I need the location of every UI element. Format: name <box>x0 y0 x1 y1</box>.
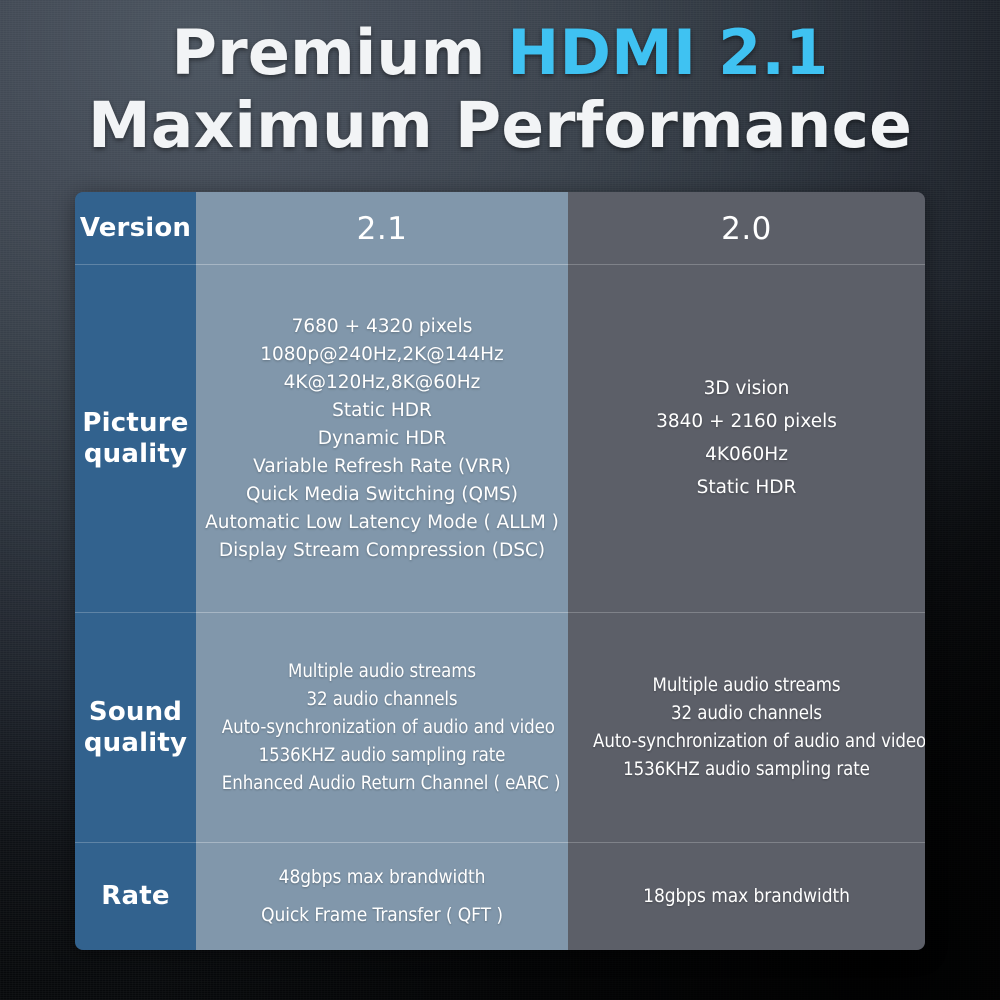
row-label-picture-quality: Picture quality <box>75 265 196 613</box>
cell-text-block: 18gbps max brandwidth <box>568 878 925 915</box>
spec-line: Variable Refresh Rate (VRR) <box>204 453 560 481</box>
spec-line: Quick Frame Transfer ( QFT ) <box>222 897 542 934</box>
cell-rate-20: 18gbps max brandwidth <box>568 843 925 950</box>
title-prefix: Premium <box>172 16 508 89</box>
page-title: Premium HDMI 2.1 Maximum Performance <box>0 22 1000 157</box>
table-header-20: 2.0 <box>568 192 925 265</box>
table-header-version: Version <box>75 192 196 265</box>
cell-sound-quality-20: Multiple audio streams 32 audio channels… <box>568 613 925 843</box>
row-label-line-1: Picture <box>82 408 188 438</box>
spec-line: Static HDR <box>204 397 560 425</box>
comparison-table: Version 2.1 2.0 Picture quality 7680 + 4… <box>75 192 925 950</box>
row-label-line-2: quality <box>84 439 187 469</box>
cell-text-block: 7680 + 4320 pixels 1080p@240Hz,2K@144Hz … <box>196 309 568 570</box>
cell-text-block: Multiple audio streams 32 audio channels… <box>196 654 568 803</box>
spec-line: 4K060Hz <box>576 439 917 472</box>
spec-line: Quick Media Switching (QMS) <box>204 481 560 509</box>
cell-picture-quality-20: 3D vision 3840 + 2160 pixels 4K060Hz Sta… <box>568 265 925 613</box>
spec-line: Auto-synchronization of audio and video <box>593 728 900 756</box>
row-label-sound-quality: Sound quality <box>75 613 196 843</box>
row-label-line-1: Sound <box>89 697 182 727</box>
row-label-text: Picture quality <box>82 408 188 469</box>
spec-line: 1080p@240Hz,2K@144Hz <box>204 341 560 369</box>
row-label-line-2: quality <box>84 728 187 758</box>
row-label-rate: Rate <box>75 843 196 950</box>
spec-line: 3D vision <box>576 373 917 406</box>
cell-text-block: Multiple audio streams 32 audio channels… <box>568 668 925 788</box>
spec-line: Multiple audio streams <box>593 672 900 700</box>
spec-line: Auto-synchronization of audio and video <box>222 714 542 742</box>
spec-line: Display Stream Compression (DSC) <box>204 537 560 565</box>
title-accent: HDMI 2.1 <box>507 16 828 89</box>
header-label-version: Version <box>80 213 191 244</box>
spec-line: 48gbps max brandwidth <box>222 859 542 896</box>
spec-line: 4K@120Hz,8K@60Hz <box>204 369 560 397</box>
spec-line: 32 audio channels <box>222 686 542 714</box>
spec-line: 1536KHZ audio sampling rate <box>222 742 542 770</box>
header-label-21: 2.1 <box>357 211 408 247</box>
spec-line: 18gbps max brandwidth <box>593 882 900 911</box>
cell-text-block: 48gbps max brandwidth Quick Frame Transf… <box>196 855 568 937</box>
title-line-2: Maximum Performance <box>0 94 1000 157</box>
spec-line: Enhanced Audio Return Channel ( eARC ) <box>222 770 542 798</box>
spec-line: Static HDR <box>576 472 917 505</box>
table-header-21: 2.1 <box>196 192 568 265</box>
title-line-1: Premium HDMI 2.1 <box>0 22 1000 84</box>
spec-line: 1536KHZ audio sampling rate <box>593 756 900 784</box>
cell-sound-quality-21: Multiple audio streams 32 audio channels… <box>196 613 568 843</box>
spec-line: 32 audio channels <box>593 700 900 728</box>
row-label-text: Rate <box>101 881 169 912</box>
spec-line: Multiple audio streams <box>222 658 542 686</box>
cell-rate-21: 48gbps max brandwidth Quick Frame Transf… <box>196 843 568 950</box>
spec-line: 3840 + 2160 pixels <box>576 406 917 439</box>
cell-picture-quality-21: 7680 + 4320 pixels 1080p@240Hz,2K@144Hz … <box>196 265 568 613</box>
row-label-text: Sound quality <box>84 697 187 758</box>
spec-line: Automatic Low Latency Mode ( ALLM ) <box>204 509 560 537</box>
cell-text-block: 3D vision 3840 + 2160 pixels 4K060Hz Sta… <box>568 369 925 509</box>
spec-line: Dynamic HDR <box>204 425 560 453</box>
header-label-20: 2.0 <box>721 211 772 247</box>
spec-line: 7680 + 4320 pixels <box>204 313 560 341</box>
